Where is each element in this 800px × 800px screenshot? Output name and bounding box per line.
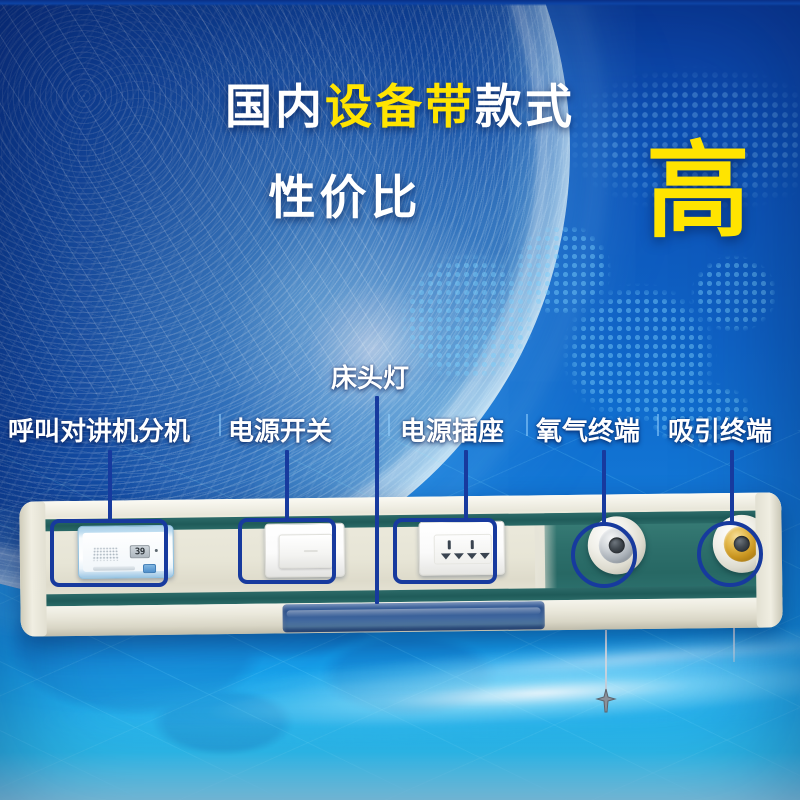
- headline-line-1: 国内设备带款式: [0, 84, 800, 131]
- leader-line-power-switch: [285, 450, 289, 520]
- product-banner: 国内设备带款式 性价比 高 39: [0, 0, 800, 800]
- pull-cord[interactable]: [605, 630, 607, 692]
- leader-line-bed-lamp: [375, 396, 379, 604]
- cord-anchor-icon: [593, 688, 619, 714]
- highlight-oxygen: [571, 522, 637, 588]
- callout-label-bed-lamp[interactable]: 床头灯: [331, 358, 409, 395]
- leader-line-power-socket: [464, 450, 468, 520]
- headline-seg-2: 设备带: [325, 80, 475, 135]
- headline-seg-1: 国内: [225, 80, 325, 135]
- callout-label-power-socket[interactable]: 电源插座: [400, 411, 504, 448]
- highlight-power-socket: [393, 518, 497, 584]
- highlight-suction: [697, 521, 763, 587]
- leader-line-oxygen: [602, 450, 606, 524]
- pull-cord-secondary: [733, 628, 735, 662]
- highlight-power-switch: [238, 518, 336, 584]
- panel-end-cap-left: [19, 501, 47, 636]
- leader-line-suction: [730, 450, 734, 523]
- callout-label-oxygen[interactable]: 氧气终端: [536, 411, 640, 448]
- callout-label-power-switch[interactable]: 电源开关: [228, 411, 332, 448]
- headline-emphasis: 高: [646, 142, 750, 241]
- top-edge-band: [0, 0, 800, 6]
- highlight-intercom: [50, 519, 168, 587]
- headline-seg-3: 款式: [475, 80, 575, 135]
- callout-label-suction[interactable]: 吸引终端: [668, 411, 772, 448]
- callout-label-intercom[interactable]: 呼叫对讲机分机: [8, 411, 190, 448]
- leader-line-intercom: [108, 450, 112, 522]
